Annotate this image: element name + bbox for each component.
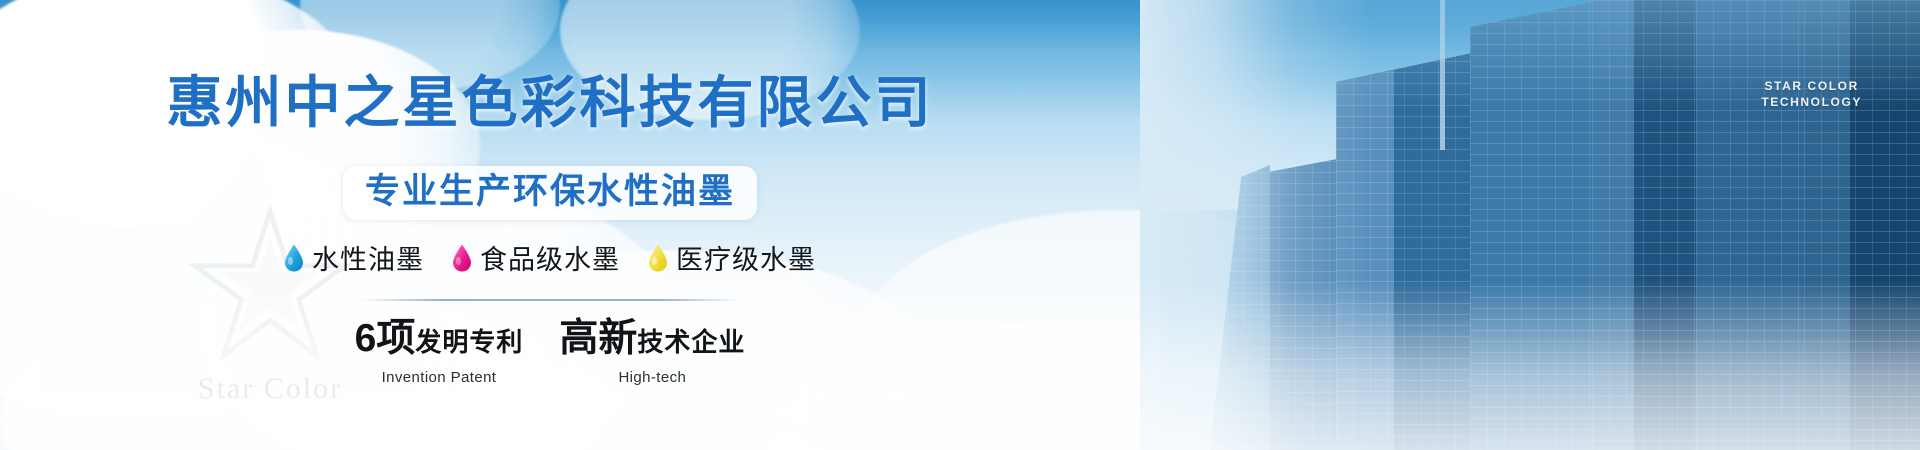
badge-big-text: 高新 bbox=[559, 317, 637, 360]
subtitle-pill: 专业生产环保水性油墨 bbox=[343, 166, 757, 220]
banner-content: 惠州中之星色彩科技有限公司 专业生产环保水性油墨 水性油 bbox=[0, 0, 1100, 450]
badge-small-text: 发明专利 bbox=[415, 327, 523, 357]
feature-item: 食品级水墨 bbox=[452, 238, 620, 277]
badge-list: 6项发明专利 Invention Patent 高新技术企业 High-tech bbox=[0, 318, 1100, 386]
water-drop-icon bbox=[284, 244, 304, 272]
feature-item: 水性油墨 bbox=[284, 238, 424, 277]
feature-label: 医疗级水墨 bbox=[676, 238, 816, 277]
section-divider bbox=[360, 299, 740, 301]
building-brand-line2: TECHNOLOGY bbox=[1761, 94, 1862, 110]
water-drop-icon bbox=[452, 244, 472, 272]
subtitle-text: 专业生产环保水性油墨 bbox=[365, 173, 735, 211]
badge-chinese: 高新技术企业 bbox=[559, 318, 745, 368]
badge-big-text: 6项 bbox=[355, 317, 416, 360]
water-drop-icon bbox=[648, 244, 668, 272]
badge-item: 高新技术企业 High-tech bbox=[559, 318, 745, 386]
feature-list: 水性油墨 食品级水墨 bbox=[0, 238, 1100, 277]
badge-english: High-tech bbox=[559, 369, 745, 386]
building-spire bbox=[1440, 0, 1445, 150]
promo-banner: Star Color STAR COLOR TECHNOLOGY 惠州中之星色彩… bbox=[0, 0, 1920, 450]
badge-english: Invention Patent bbox=[355, 369, 524, 386]
building-brand-line1: STAR COLOR bbox=[1761, 78, 1862, 94]
feature-label: 食品级水墨 bbox=[480, 238, 620, 277]
badge-chinese: 6项发明专利 bbox=[355, 318, 524, 368]
feature-label: 水性油墨 bbox=[312, 238, 424, 277]
feature-item: 医疗级水墨 bbox=[648, 238, 816, 277]
company-title: 惠州中之星色彩科技有限公司 bbox=[0, 58, 1100, 139]
building-brand-label: STAR COLOR TECHNOLOGY bbox=[1761, 78, 1862, 110]
badge-item: 6项发明专利 Invention Patent bbox=[355, 318, 524, 386]
badge-small-text: 技术企业 bbox=[637, 327, 745, 357]
